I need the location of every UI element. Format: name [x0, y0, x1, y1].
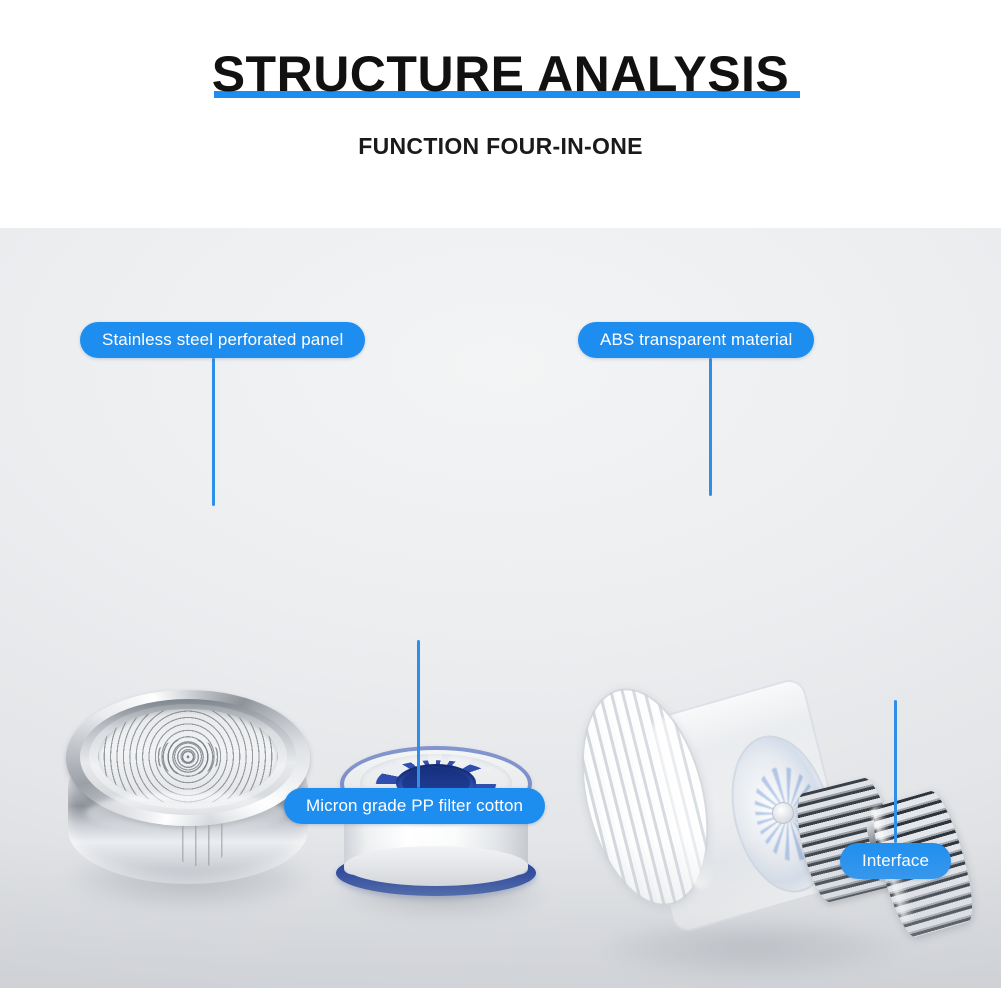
- bottom-white-strip: [0, 988, 1001, 1001]
- filter-body-bottom: [344, 846, 528, 886]
- leader-line-interface: [894, 700, 897, 843]
- header-band: STRUCTURE ANALYSIS FUNCTION FOUR-IN-ONE: [0, 0, 1001, 228]
- product-infographic: STRUCTURE ANALYSIS FUNCTION FOUR-IN-ONE: [0, 0, 1001, 1001]
- callout-abs-material[interactable]: ABS transparent material: [578, 322, 814, 358]
- callout-stainless-panel[interactable]: Stainless steel perforated panel: [80, 322, 365, 358]
- part-chrome-perforated-panel: [62, 688, 314, 903]
- page-subtitle: FUNCTION FOUR-IN-ONE: [0, 133, 1001, 160]
- callout-interface[interactable]: Interface: [840, 843, 951, 879]
- panel-perforated-mesh: [98, 709, 278, 804]
- panel-gloss-highlight: [86, 792, 286, 834]
- leader-line-abs-material: [709, 358, 712, 496]
- panel-mesh-center-rings: [155, 739, 221, 775]
- page-title-wrap: STRUCTURE ANALYSIS: [0, 44, 1001, 104]
- leader-line-stainless-panel: [212, 358, 215, 506]
- part-abs-transparent-housing: [586, 676, 936, 976]
- callout-pp-filter-cotton[interactable]: Micron grade PP filter cotton: [284, 788, 545, 824]
- abs-center-screw: [772, 802, 794, 824]
- leader-line-pp-filter-cotton: [417, 640, 420, 788]
- product-photo-stage: Stainless steel perforated panel ABS tra…: [0, 228, 1001, 988]
- page-title: STRUCTURE ANALYSIS: [212, 44, 790, 104]
